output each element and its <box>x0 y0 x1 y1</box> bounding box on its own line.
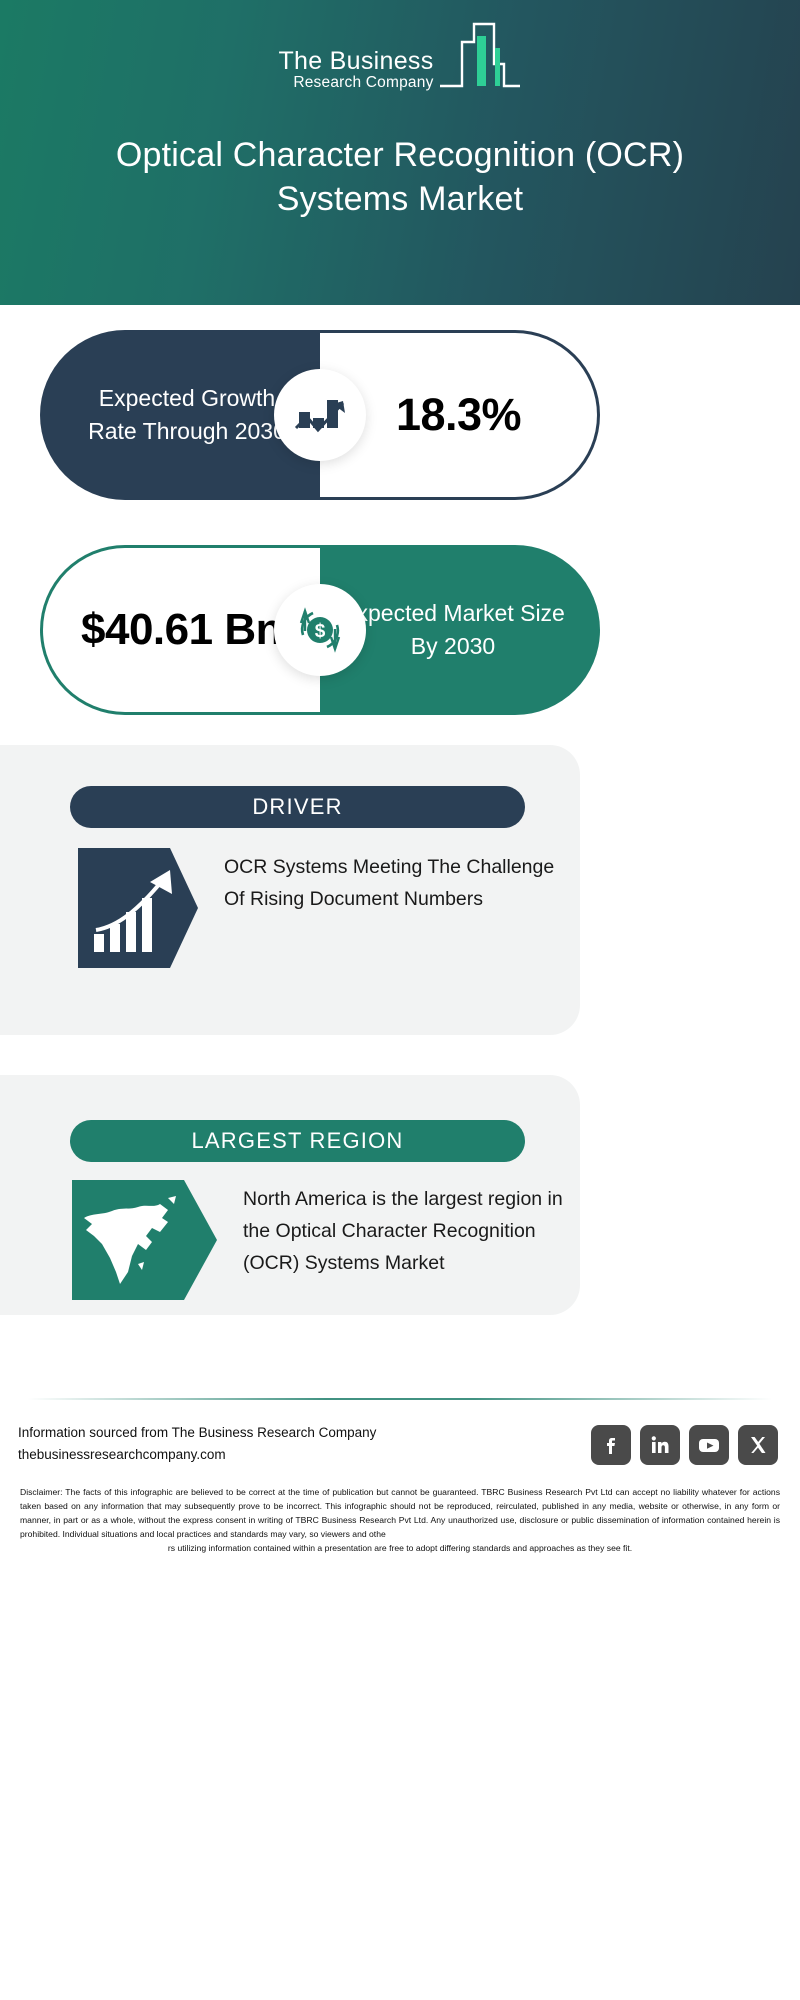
dollar-circulation-icon: $ <box>274 584 366 676</box>
facebook-icon[interactable] <box>591 1425 631 1465</box>
growth-chart-arrow-icon <box>274 369 366 461</box>
source-info: Information sourced from The Business Re… <box>18 1422 376 1465</box>
region-pill: LARGEST REGION <box>70 1120 525 1162</box>
infographic-page: The Business Research Company Optical Ch… <box>0 0 800 2000</box>
driver-body: OCR Systems Meeting The Challenge Of Ris… <box>78 848 578 968</box>
company-logo: The Business Research Company <box>0 20 800 97</box>
bar-chart-growth-arrow-icon <box>78 848 198 968</box>
north-america-map-icon <box>72 1180 217 1300</box>
svg-text:$: $ <box>315 621 326 642</box>
footer-divider <box>28 1398 772 1400</box>
stat-card-growth-rate: Expected Growth Rate Through 2030 18.3% <box>40 330 600 500</box>
stat-value-market-size: $40.61 Bn <box>81 605 282 654</box>
stat-card-market-size: $40.61 Bn Expected Market Size By 2030 $ <box>40 545 600 715</box>
disclaimer-last-line: rs utilizing information contained withi… <box>20 1542 780 1556</box>
social-links <box>591 1425 778 1465</box>
source-line-1: Information sourced from The Business Re… <box>18 1422 376 1444</box>
disclaimer-main: Disclaimer: The facts of this infographi… <box>20 1487 780 1539</box>
source-line-2[interactable]: thebusinessresearchcompany.com <box>18 1444 376 1466</box>
linkedin-icon[interactable] <box>640 1425 680 1465</box>
region-pill-label: LARGEST REGION <box>192 1128 404 1154</box>
logo-line-2: Research Company <box>278 74 433 93</box>
company-logo-text: The Business Research Company <box>278 48 433 97</box>
driver-text: OCR Systems Meeting The Challenge Of Ris… <box>224 848 578 916</box>
driver-pill: DRIVER <box>70 786 525 828</box>
youtube-icon[interactable] <box>689 1425 729 1465</box>
region-body: North America is the largest region in t… <box>72 1180 582 1300</box>
bar-chart-logo-icon <box>436 20 522 97</box>
stat-value-growth-rate: 18.3% <box>396 390 521 440</box>
driver-pill-label: DRIVER <box>252 794 342 820</box>
logo-line-1: The Business <box>278 48 433 74</box>
disclaimer-text: Disclaimer: The facts of this infographi… <box>20 1486 780 1556</box>
x-twitter-icon[interactable] <box>738 1425 778 1465</box>
page-title: Optical Character Recognition (OCR) Syst… <box>0 134 800 221</box>
header-banner: The Business Research Company Optical Ch… <box>0 0 800 305</box>
region-text: North America is the largest region in t… <box>243 1180 582 1279</box>
